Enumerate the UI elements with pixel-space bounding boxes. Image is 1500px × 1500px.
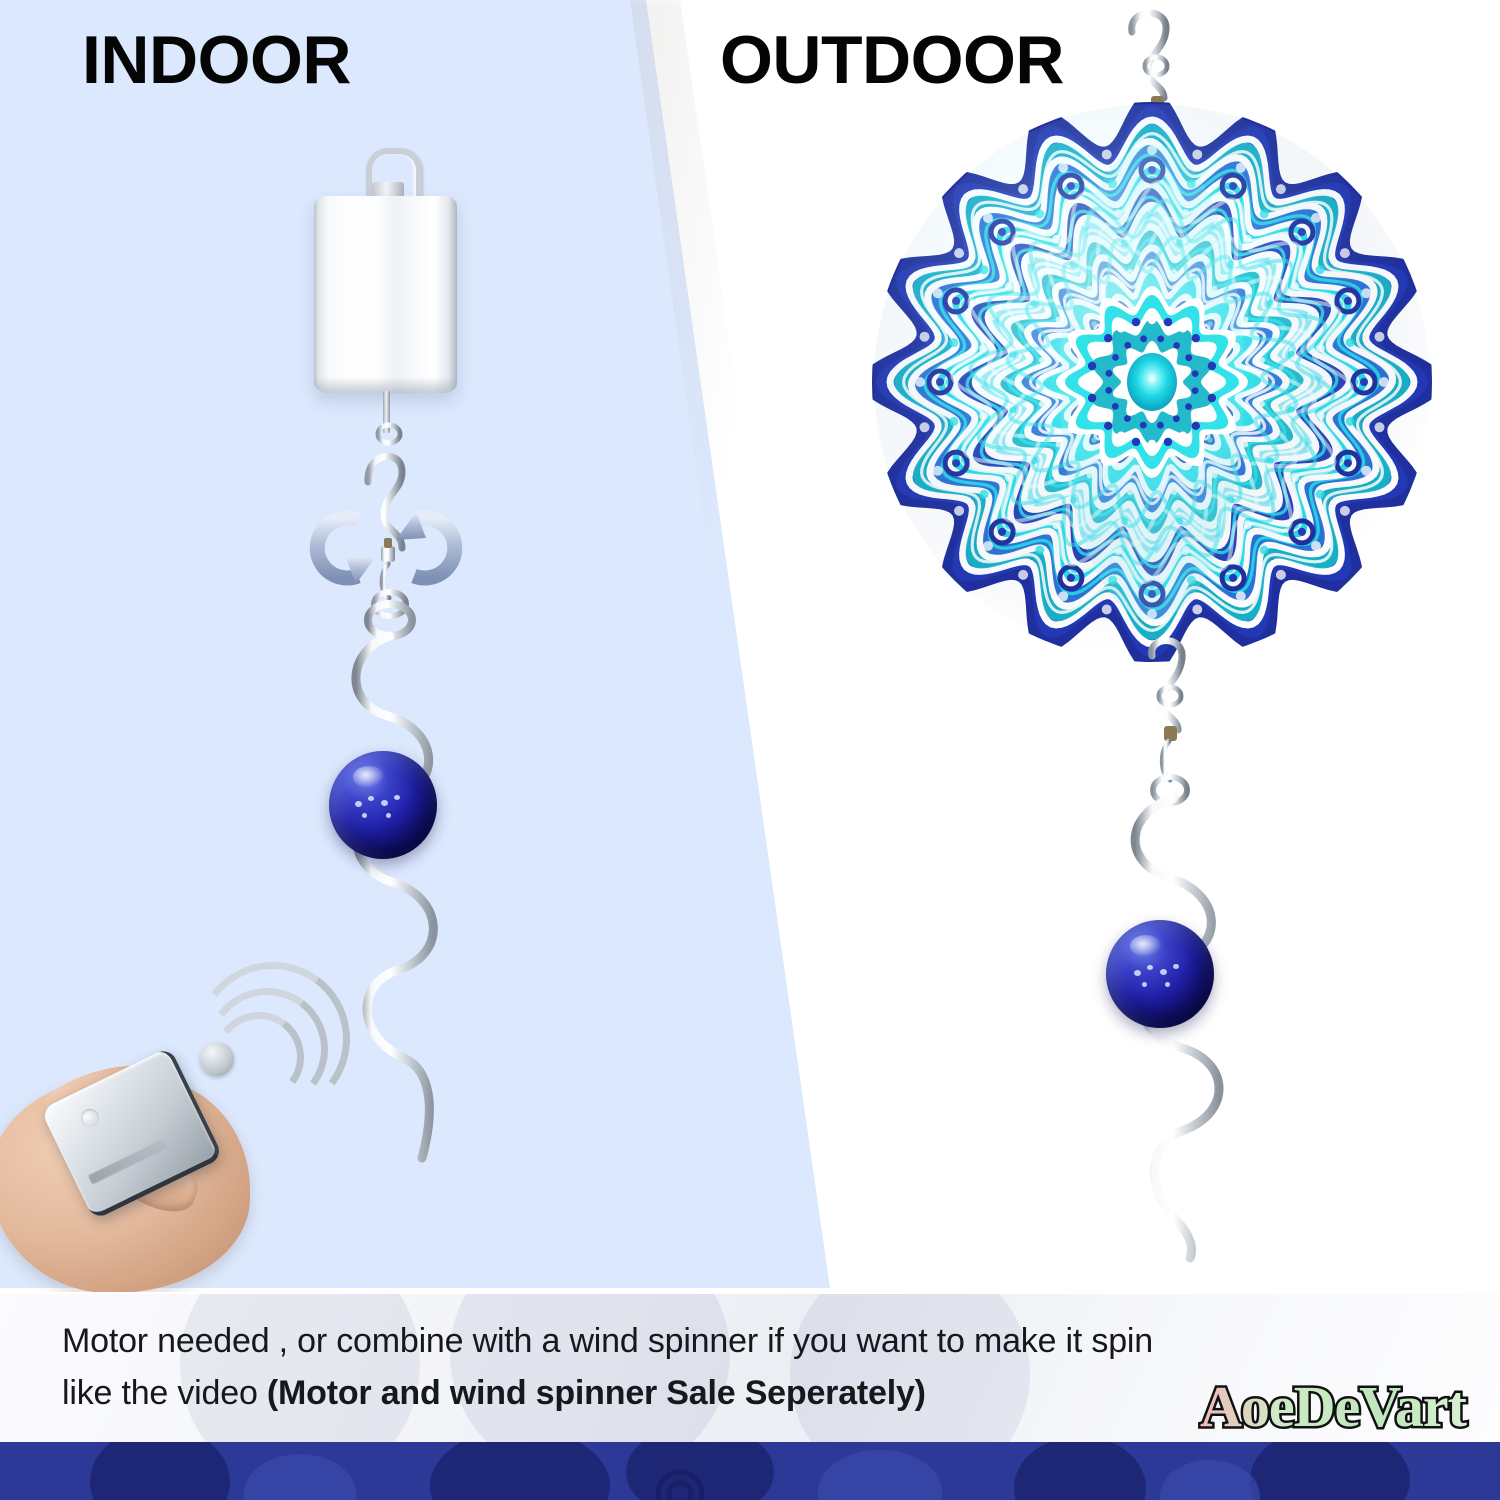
rotation-arrows-icon bbox=[306, 498, 466, 608]
caption-line-2-bold: (Motor and wind spinner Sale Seperately) bbox=[267, 1374, 926, 1412]
svg-text:AoeDeVart: AoeDeVart bbox=[1200, 1374, 1468, 1439]
caption-text: Motor needed , or combine with a wind sp… bbox=[62, 1316, 1192, 1419]
motor-housing bbox=[314, 196, 457, 393]
footer-decorative-strip bbox=[0, 1442, 1500, 1500]
caption-line-1: Motor needed , or combine with a wind sp… bbox=[62, 1322, 1153, 1360]
indoor-glass-ball bbox=[329, 751, 437, 859]
ball-highlight bbox=[353, 766, 385, 788]
outdoor-heading: OUTDOOR bbox=[720, 26, 1064, 94]
ball-highlight bbox=[1130, 935, 1162, 957]
remote-power-button[interactable] bbox=[78, 1106, 102, 1130]
outdoor-glass-ball bbox=[1106, 920, 1214, 1028]
outdoor-lower-s-hook-icon bbox=[1122, 640, 1222, 810]
outdoor-spiral-tail bbox=[1090, 790, 1270, 1260]
remote-control-group bbox=[0, 1020, 330, 1290]
brand-logo: AoeDeVart bbox=[1196, 1370, 1464, 1444]
remote-brand-label bbox=[88, 1139, 168, 1185]
signal-source-dot-icon bbox=[200, 1042, 234, 1076]
product-comparison-image: INDOOR OUTDOOR bbox=[0, 0, 1500, 1500]
indoor-heading: INDOOR bbox=[82, 26, 351, 94]
caption-line-2-normal: like the video bbox=[62, 1374, 267, 1412]
mandala-wind-spinner bbox=[868, 98, 1436, 666]
indoor-spiral-tail bbox=[318, 598, 488, 1168]
